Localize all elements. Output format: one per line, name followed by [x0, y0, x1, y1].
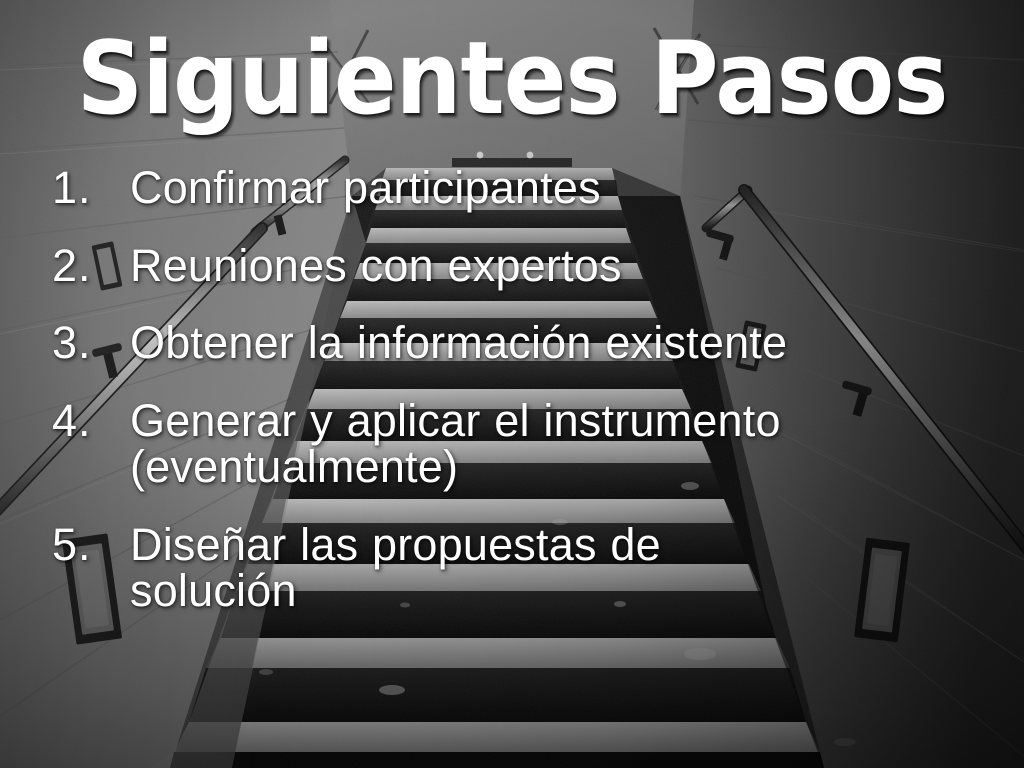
step-text: Obtener la información existente	[130, 320, 982, 367]
step-number: 3.	[52, 320, 130, 367]
next-steps-list: 1. Confirmar participantes 2. Reuniones …	[52, 165, 982, 646]
step-number: 4.	[52, 398, 130, 445]
step-text: Generar y aplicar el instrumento(eventua…	[130, 398, 982, 491]
step-number: 2.	[52, 243, 130, 290]
list-item: 3. Obtener la información existente	[52, 320, 982, 367]
slide-text-layer: Siguientes Pasos 1. Confirmar participan…	[0, 0, 1024, 768]
page-title: Siguientes Pasos	[44, 26, 981, 131]
step-line: solución	[130, 568, 982, 615]
step-text: Reuniones con expertos	[130, 243, 982, 290]
list-item: 1. Confirmar participantes	[52, 165, 982, 212]
step-number: 5.	[52, 522, 130, 569]
step-line: Confirmar participantes	[130, 165, 982, 212]
step-line: Diseñar las propuestas de	[130, 522, 982, 569]
step-line: (eventualmente)	[130, 444, 982, 491]
step-text: Diseñar las propuestas desolución	[130, 522, 982, 615]
step-line: Generar y aplicar el instrumento	[130, 398, 982, 445]
presentation-slide: Siguientes Pasos 1. Confirmar participan…	[0, 0, 1024, 768]
step-number: 1.	[52, 165, 130, 212]
list-item: 4. Generar y aplicar el instrumento(even…	[52, 398, 982, 491]
step-text: Confirmar participantes	[130, 165, 982, 212]
step-line: Reuniones con expertos	[130, 243, 982, 290]
list-item: 5. Diseñar las propuestas desolución	[52, 522, 982, 615]
list-item: 2. Reuniones con expertos	[52, 243, 982, 290]
step-line: Obtener la información existente	[130, 320, 982, 367]
